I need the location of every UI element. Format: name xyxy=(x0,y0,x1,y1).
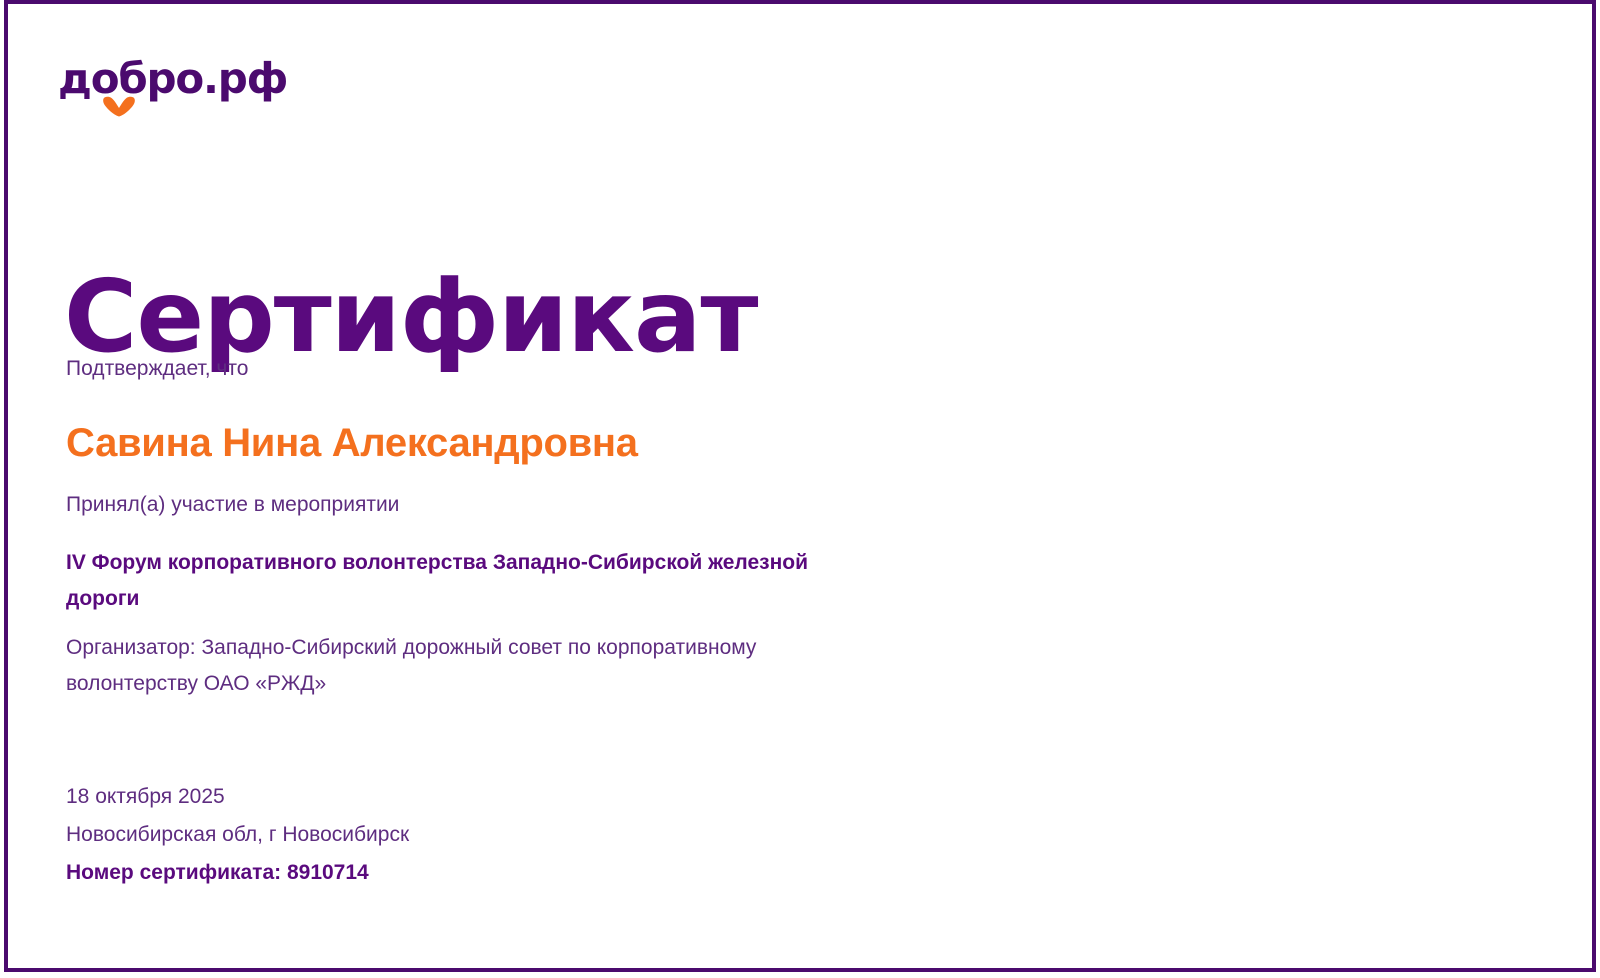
issue-date: 18 октября 2025 xyxy=(66,778,766,816)
certificate-page: добро.рф Сертификат Подтверждает, что Са… xyxy=(0,0,1600,978)
recipient-name: Савина Нина Александровна xyxy=(66,418,638,468)
event-title: IV Форум корпоративного волонтерства Зап… xyxy=(66,545,826,617)
logo-wordmark: добро.рф xyxy=(58,58,287,100)
participation-label: Принял(а) участие в мероприятии xyxy=(66,491,399,519)
certificate-footer: 18 октября 2025 Новосибирская обл, г Нов… xyxy=(66,778,766,892)
confirmation-label: Подтверждает, что xyxy=(66,355,248,383)
certificate-content: добро.рф Сертификат Подтверждает, что Са… xyxy=(0,0,1600,978)
dobro-rf-logo[interactable]: добро.рф xyxy=(58,58,298,128)
organizer-line: Организатор: Западно-Сибирский дорожный … xyxy=(66,630,856,702)
issue-location: Новосибирская обл, г Новосибирск xyxy=(66,816,766,854)
certificate-number: Номер сертификата: 8910714 xyxy=(66,854,766,892)
heart-smile-icon xyxy=(102,95,136,117)
